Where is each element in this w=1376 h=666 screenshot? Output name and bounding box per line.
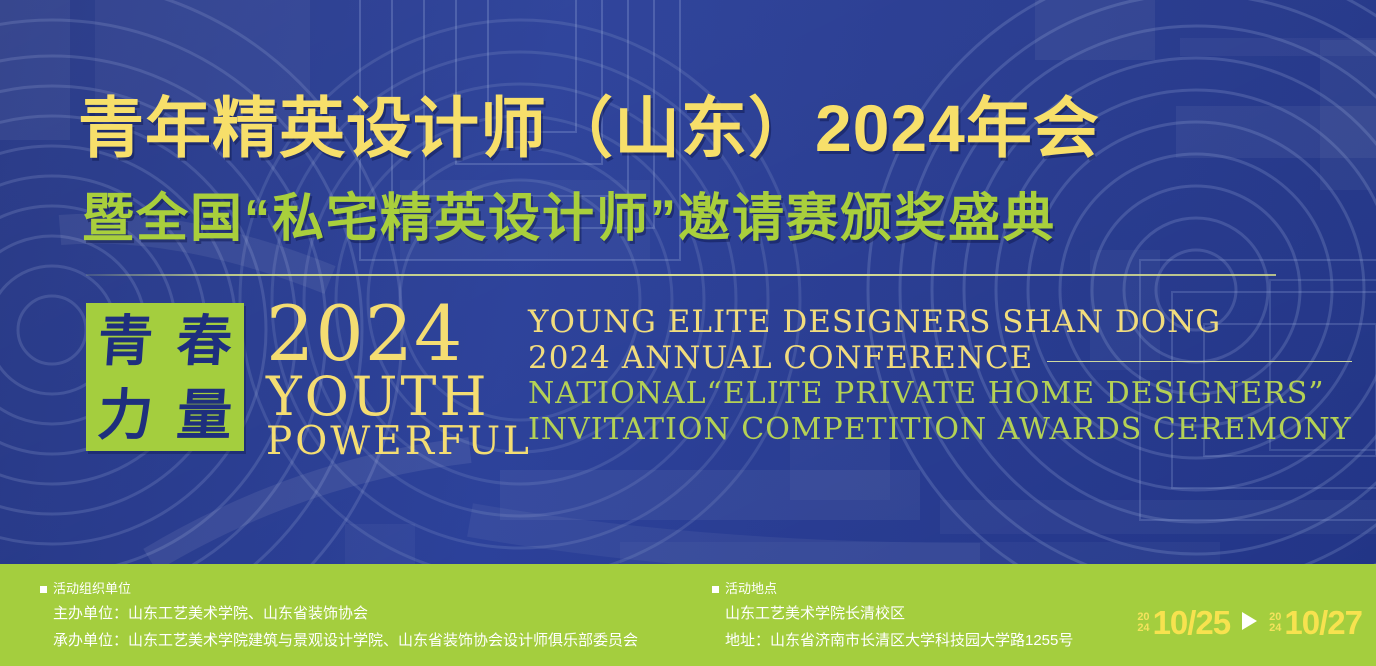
- organizer-line-2: 承办单位：山东工艺美术学院建筑与景观设计学院、山东省装饰协会设计师俱乐部委员会: [40, 627, 638, 654]
- youth-power-stamp: 青 春 力 量: [86, 303, 244, 451]
- english-line-4: INVITATION COMPETITION AWARDS CEREMONY: [528, 412, 1352, 448]
- bullet-square-icon: [40, 586, 47, 593]
- english-line-1: YOUNG ELITE DESIGNERS SHAN DONG: [528, 304, 1352, 340]
- start-date-year: 20 24: [1137, 612, 1149, 639]
- page-title: 青年精英设计师（山东）2024年会: [78, 92, 1100, 164]
- english-line-2-row: 2024 ANNUAL CONFERENCE: [528, 340, 1352, 376]
- english-title-block: YOUNG ELITE DESIGNERS SHAN DONG 2024 ANN…: [528, 304, 1352, 448]
- youth-text: YOUTH: [266, 371, 532, 423]
- stamp-char-chun: 春: [175, 313, 234, 368]
- end-date-year: 20 24: [1269, 612, 1281, 639]
- english-line-3: NATIONAL“ELITE PRIVATE HOME DESIGNERS”: [528, 376, 1352, 412]
- page-subtitle: 暨全国“私宅精英设计师”邀请赛颁奖盛典: [82, 190, 1056, 248]
- stamp-char-liang: 量: [175, 387, 234, 442]
- english-line-2: 2024 ANNUAL CONFERENCE: [528, 340, 1033, 376]
- start-date-monthday: 10/25: [1153, 606, 1231, 639]
- end-date-monthday: 10/27: [1284, 606, 1362, 639]
- year-youth-powerful-block: 2024 YOUTH POWERFUL: [266, 297, 532, 461]
- organizer-heading-label: 活动组织单位: [53, 578, 131, 600]
- organizer-block: 活动组织单位 主办单位：山东工艺美术学院、山东省装饰协会 承办单位：山东工艺美术…: [40, 578, 638, 654]
- venue-heading-label: 活动地点: [725, 578, 777, 600]
- stamp-char-li: 力: [96, 387, 155, 442]
- poster-content: 青年精英设计师（山东）2024年会 暨全国“私宅精英设计师”邀请赛颁奖盛典 青 …: [0, 0, 1376, 666]
- end-date-year-bottom: 24: [1269, 623, 1281, 634]
- stamp-char-qing: 青: [96, 313, 155, 368]
- bullet-square-icon: [712, 586, 719, 593]
- venue-heading: 活动地点: [712, 578, 1073, 600]
- footer-bar: 活动组织单位 主办单位：山东工艺美术学院、山东省装饰协会 承办单位：山东工艺美术…: [0, 564, 1376, 666]
- end-date: 20 24 10/27: [1269, 606, 1362, 639]
- organizer-line-1: 主办单位：山东工艺美术学院、山东省装饰协会: [40, 600, 638, 627]
- organizer-heading: 活动组织单位: [40, 578, 638, 600]
- start-date-year-bottom: 24: [1137, 623, 1149, 634]
- arrow-right-icon: [1242, 612, 1257, 630]
- venue-line-2: 地址：山东省济南市长清区大学科技园大学路1255号: [712, 627, 1073, 654]
- event-dates: 20 24 10/25 20 24 10/27: [1137, 606, 1362, 639]
- english-rule: [1047, 361, 1351, 362]
- start-date: 20 24 10/25: [1137, 606, 1230, 639]
- divider-rule: [86, 274, 1276, 276]
- poster-root: 青年精英设计师（山东）2024年会 暨全国“私宅精英设计师”邀请赛颁奖盛典 青 …: [0, 0, 1376, 666]
- venue-block: 活动地点 山东工艺美术学院长清校区 地址：山东省济南市长清区大学科技园大学路12…: [712, 578, 1073, 654]
- powerful-text: POWERFUL: [266, 423, 532, 461]
- venue-line-1: 山东工艺美术学院长清校区: [712, 600, 1073, 627]
- year-2024-text: 2024: [266, 297, 532, 371]
